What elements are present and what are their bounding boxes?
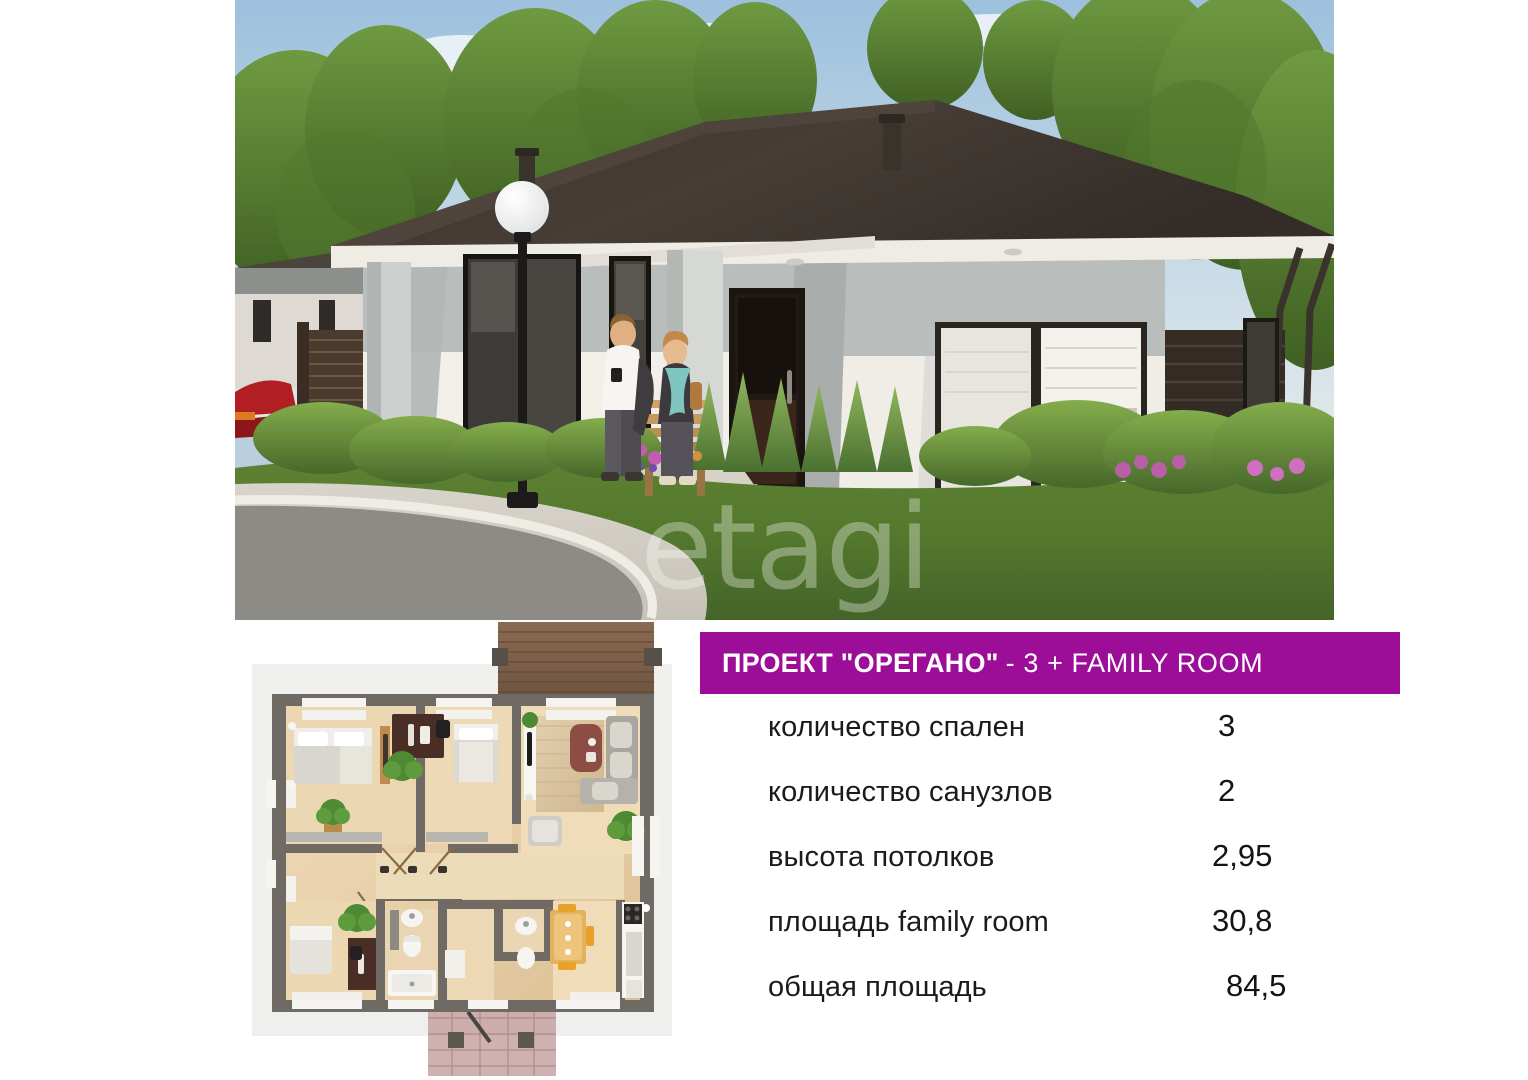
spec-label-bedrooms: количество спален <box>700 711 1170 744</box>
spec-value-bedrooms: 3 <box>1170 708 1360 744</box>
spec-row-family-room-area: площадь family room 30,8 <box>700 903 1360 968</box>
spec-label-family-room-area: площадь family room <box>700 906 1170 939</box>
floor-plan-illustration <box>240 620 700 1080</box>
spec-value-family-room-area: 30,8 <box>1170 903 1360 939</box>
spec-label-bathrooms: количество санузлов <box>700 776 1170 809</box>
spec-row-bathrooms: количество санузлов 2 <box>700 773 1360 838</box>
project-title-strong: ПРОЕКТ "ОРЕГАНО" <box>722 648 999 679</box>
spec-value-bathrooms: 2 <box>1170 773 1360 809</box>
floor-plan-image <box>240 620 700 1080</box>
spec-label-total-area: общая площадь <box>700 971 1170 1004</box>
project-title-light: - 3 + FAMILY ROOM <box>1006 648 1264 679</box>
spec-label-ceiling-height: высота потолков <box>700 841 1170 874</box>
spec-value-ceiling-height: 2,95 <box>1170 838 1360 874</box>
spec-row-total-area: общая площадь 84,5 <box>700 968 1360 1033</box>
project-title-banner: ПРОЕКТ "ОРЕГАНО" - 3 + FAMILY ROOM <box>700 632 1400 694</box>
project-info-panel: ПРОЕКТ "ОРЕГАНО" - 3 + FAMILY ROOM колич… <box>700 632 1400 1033</box>
spec-row-ceiling-height: высота потолков 2,95 <box>700 838 1360 903</box>
house-exterior-illustration <box>235 0 1334 620</box>
specifications-table: количество спален 3 количество санузлов … <box>700 708 1360 1033</box>
spec-row-bedrooms: количество спален 3 <box>700 708 1360 773</box>
house-exterior-photo: etagi <box>235 0 1334 620</box>
spec-value-total-area: 84,5 <box>1170 968 1360 1004</box>
